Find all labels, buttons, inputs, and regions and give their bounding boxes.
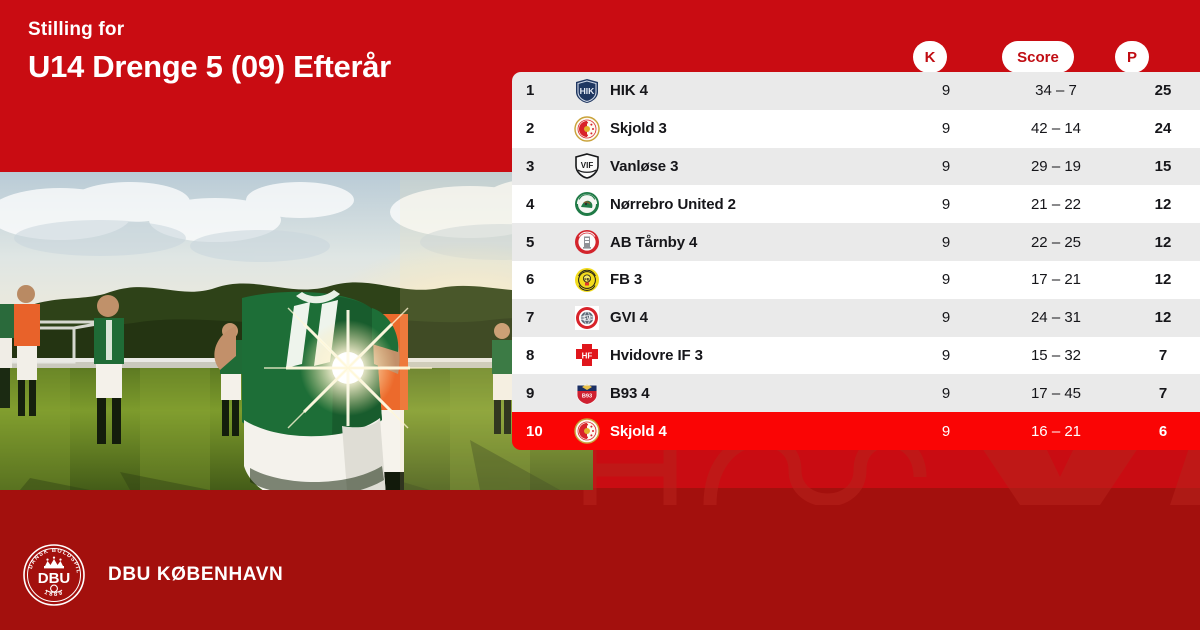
team-name: Hvidovre IF 3 (610, 347, 920, 364)
norrebro-logo (564, 191, 610, 217)
skjold-logo (564, 116, 610, 142)
skjold-logo (564, 418, 610, 444)
table-row-highlighted[interactable]: 10 Skjold 4 9 16 – 21 6 (512, 412, 1200, 450)
points-value: 25 (1126, 82, 1200, 99)
organisation-name: DBU KØBENHAVN (108, 564, 283, 586)
svg-text:HF: HF (582, 352, 593, 361)
matches-value: 9 (906, 158, 986, 175)
matches-value: 9 (906, 423, 986, 440)
team-name: AB Tårnby 4 (610, 234, 920, 251)
team-name: Skjold 4 (610, 423, 920, 440)
score-value: 21 – 22 (986, 196, 1126, 213)
header-block: Stilling for U14 Drenge 5 (09) Efterår (28, 18, 498, 87)
score-value: 29 – 19 (986, 158, 1126, 175)
kicker-label: Stilling for (28, 18, 498, 42)
points-value: 6 (1126, 423, 1200, 440)
svg-text:HIK: HIK (580, 86, 596, 96)
svg-text:B93: B93 (582, 394, 592, 400)
rank-value: 2 (512, 120, 564, 137)
rank-value: 6 (512, 271, 564, 288)
score-value: 17 – 45 (986, 385, 1126, 402)
team-name: GVI 4 (610, 309, 920, 326)
score-value: 24 – 31 (986, 309, 1126, 326)
hik-logo: HIK (564, 78, 610, 104)
table-row[interactable]: 9 B93 B93 4 9 17 – 45 7 (512, 374, 1200, 412)
svg-text:DBU: DBU (38, 570, 71, 587)
points-value: 7 (1126, 385, 1200, 402)
matches-value: 9 (906, 120, 986, 137)
points-value: 12 (1126, 271, 1200, 288)
column-header-matches: K (913, 41, 947, 73)
ab-tarnby-logo (564, 229, 610, 255)
vanlose-logo: VIF (564, 153, 610, 179)
hvidovre-logo: HF (564, 342, 610, 368)
team-name: FB 3 (610, 271, 920, 288)
table-row[interactable]: 6 FB FB 3 9 17 – 21 12 (512, 261, 1200, 299)
rank-value: 1 (512, 82, 564, 99)
team-name: Skjold 3 (610, 120, 920, 137)
dbu-crest-icon: DANSK BOLDSPIL UNION 1889 DBU (22, 543, 86, 607)
b93-logo: B93 (564, 380, 610, 406)
points-value: 24 (1126, 120, 1200, 137)
rank-value: 5 (512, 234, 564, 251)
svg-text:FB: FB (584, 276, 589, 281)
team-name: B93 4 (610, 385, 920, 402)
rank-value: 8 (512, 347, 564, 364)
points-value: 12 (1126, 196, 1200, 213)
fb-logo: FB (564, 267, 610, 293)
hero-photo (0, 172, 593, 490)
team-name: HIK 4 (610, 82, 920, 99)
score-value: 42 – 14 (986, 120, 1126, 137)
matches-value: 9 (906, 271, 986, 288)
rank-value: 3 (512, 158, 564, 175)
table-row[interactable]: 5 AB Tårnby 4 9 22 – 25 12 (512, 223, 1200, 261)
gvi-logo: GVI (564, 305, 610, 331)
rank-value: 4 (512, 196, 564, 213)
matches-value: 9 (906, 82, 986, 99)
column-header-points: P (1115, 41, 1149, 73)
matches-value: 9 (906, 196, 986, 213)
score-value: 15 – 32 (986, 347, 1126, 364)
team-name: Vanløse 3 (610, 158, 920, 175)
matches-value: 9 (906, 347, 986, 364)
svg-text:GVI: GVI (582, 316, 592, 322)
table-row[interactable]: 2 Skjold 3 9 42 – 14 24 (512, 110, 1200, 148)
points-value: 7 (1126, 347, 1200, 364)
rank-value: 9 (512, 385, 564, 402)
rank-value: 7 (512, 309, 564, 326)
points-value: 12 (1126, 234, 1200, 251)
table-row[interactable]: 8 HF Hvidovre IF 3 9 15 – 32 7 (512, 337, 1200, 375)
score-value: 34 – 7 (986, 82, 1126, 99)
table-row[interactable]: 7 GVI GVI 4 9 24 – 31 12 (512, 299, 1200, 337)
table-row[interactable]: 1 HIK HIK 4 9 34 – 7 25 (512, 72, 1200, 110)
page-title: U14 Drenge 5 (09) Efterår (28, 47, 498, 87)
score-value: 16 – 21 (986, 423, 1126, 440)
matches-value: 9 (906, 309, 986, 326)
table-row[interactable]: 4 Nørrebro United 2 9 21 – 22 12 (512, 185, 1200, 223)
column-header-score: Score (1002, 41, 1074, 73)
score-value: 17 – 21 (986, 271, 1126, 288)
standings-table: 1 HIK HIK 4 9 34 – 7 25 2 (512, 72, 1200, 450)
team-name: Nørrebro United 2 (610, 196, 920, 213)
score-value: 22 – 25 (986, 234, 1126, 251)
table-row[interactable]: 3 VIF Vanløse 3 9 29 – 19 15 (512, 148, 1200, 186)
svg-text:VIF: VIF (581, 161, 594, 170)
matches-value: 9 (906, 385, 986, 402)
points-value: 15 (1126, 158, 1200, 175)
matches-value: 9 (906, 234, 986, 251)
footer-brand: DANSK BOLDSPIL UNION 1889 DBU DBU KØBENH… (22, 543, 283, 607)
points-value: 12 (1126, 309, 1200, 326)
rank-value: 10 (512, 423, 564, 440)
